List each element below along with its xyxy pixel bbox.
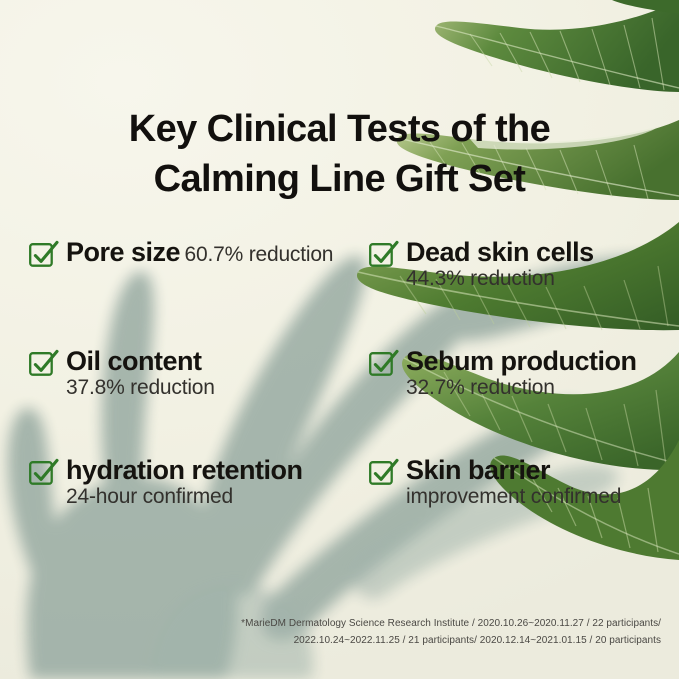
clinical-results-list: Pore size 60.7% reduction Dead skin cell… (0, 238, 679, 509)
result-value: 24-hour confirmed (66, 485, 233, 508)
result-text-block: Skin barrier improvement confirmed (406, 456, 679, 509)
result-row: Oil content 37.8% reduction Sebum produc… (0, 347, 679, 400)
title-line-2: Calming Line Gift Set (0, 155, 679, 204)
result-text-block: Dead skin cells 44.3% reduction (406, 238, 679, 291)
result-text-block: Sebum production 32.7% reduction (406, 347, 679, 400)
result-value: improvement confirmed (406, 485, 621, 508)
check-square-icon (28, 460, 54, 486)
result-item-sebum-production: Sebum production 32.7% reduction (334, 347, 679, 400)
check-square-icon (28, 351, 54, 377)
promo-poster: Key Clinical Tests of the Calming Line G… (0, 0, 679, 679)
result-item-hydration-retention: hydration retention 24-hour confirmed (0, 456, 334, 509)
result-label: Pore size (66, 237, 180, 267)
result-text-block: Pore size 60.7% reduction (66, 238, 333, 267)
result-item-oil-content: Oil content 37.8% reduction (0, 347, 334, 400)
result-item-skin-barrier: Skin barrier improvement confirmed (334, 456, 679, 509)
check-square-icon (368, 242, 394, 268)
study-footnote: *MarieDM Dermatology Science Research In… (0, 616, 661, 649)
result-label: Skin barrier (406, 455, 550, 485)
check-square-icon (28, 242, 54, 268)
title-line-1: Key Clinical Tests of the (0, 105, 679, 154)
result-item-pore-size: Pore size 60.7% reduction (0, 238, 334, 291)
check-square-icon (368, 460, 394, 486)
result-value: 44.3% reduction (406, 267, 555, 290)
result-value: 32.7% reduction (406, 376, 555, 399)
result-label: Sebum production (406, 346, 637, 376)
footnote-line-1: *MarieDM Dermatology Science Research In… (0, 616, 661, 633)
check-square-icon (368, 351, 394, 377)
result-label: Oil content (66, 346, 202, 376)
result-row: Pore size 60.7% reduction Dead skin cell… (0, 238, 679, 291)
result-value: 60.7% reduction (185, 243, 334, 266)
result-value: 37.8% reduction (66, 376, 215, 399)
result-text-block: hydration retention 24-hour confirmed (66, 456, 334, 509)
footnote-line-2: 2022.10.24~2022.11.25 / 21 participants/… (0, 633, 661, 650)
result-label: hydration retention (66, 455, 303, 485)
page-title: Key Clinical Tests of the Calming Line G… (0, 105, 679, 204)
result-item-dead-skin-cells: Dead skin cells 44.3% reduction (334, 238, 679, 291)
result-label: Dead skin cells (406, 237, 594, 267)
result-text-block: Oil content 37.8% reduction (66, 347, 334, 400)
result-row: hydration retention 24-hour confirmed Sk… (0, 456, 679, 509)
